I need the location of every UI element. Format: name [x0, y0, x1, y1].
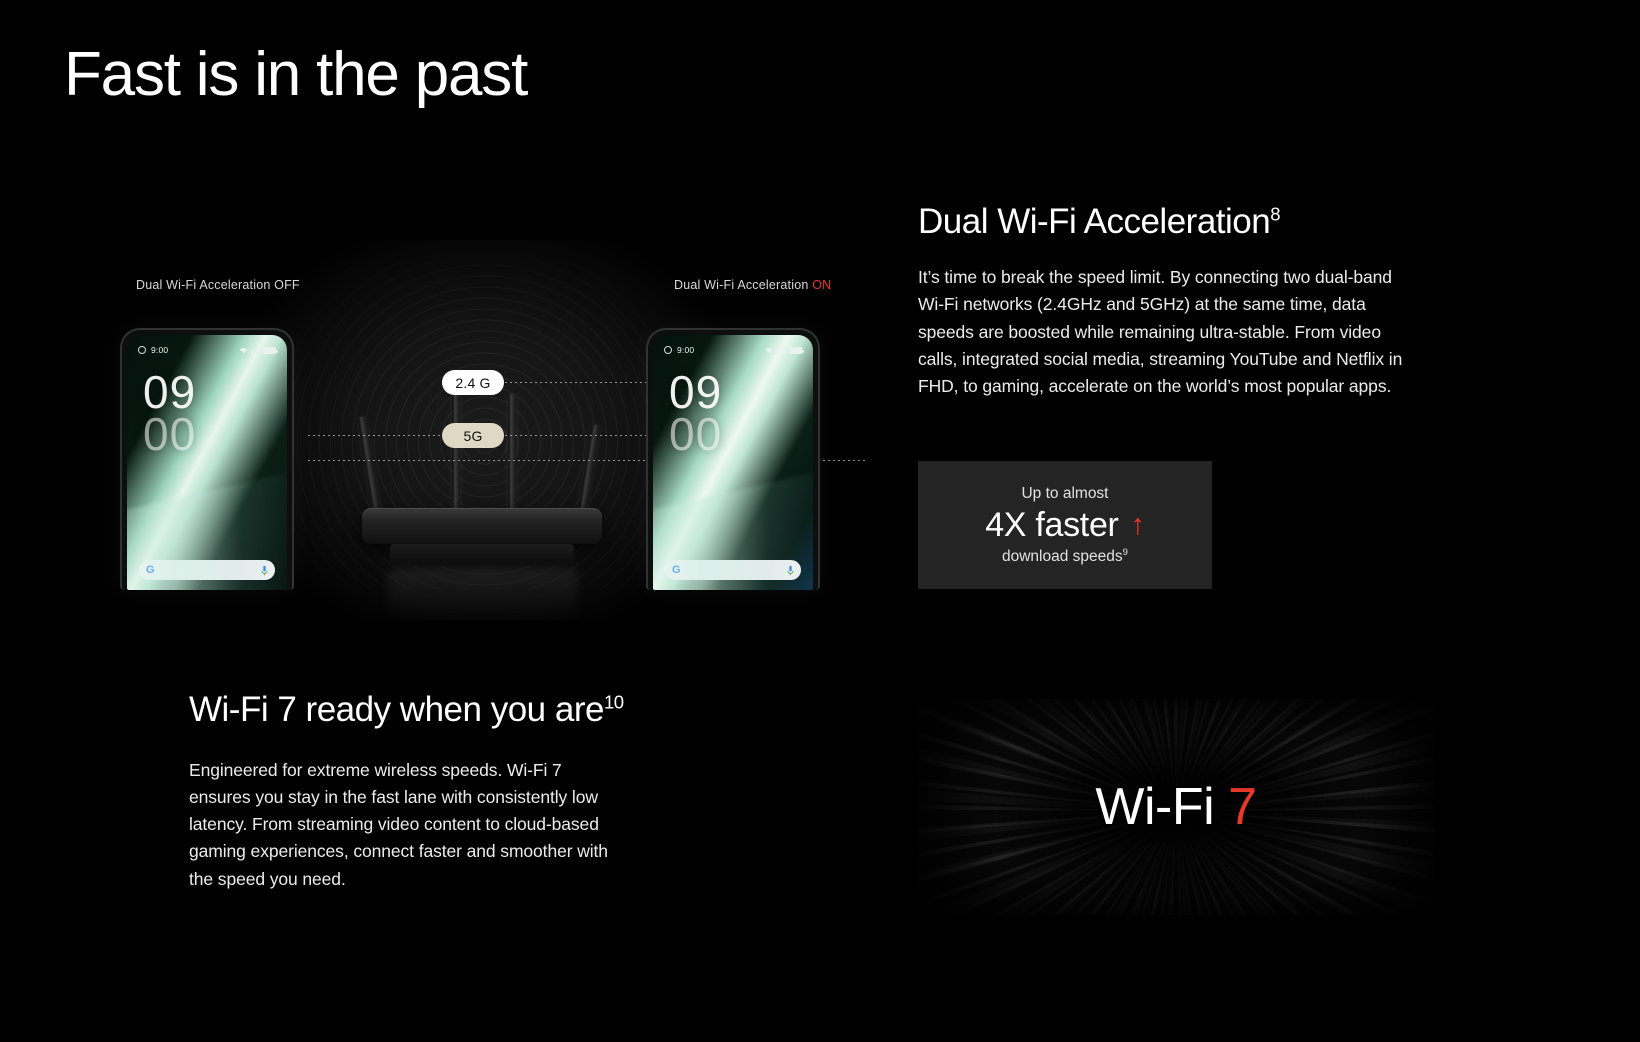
badge-bottom-label: download speeds9 [1002, 548, 1128, 566]
wifi7-panel-label-accent: 7 [1228, 778, 1256, 836]
page-title: Fast is in the past [64, 42, 527, 107]
phone-mockup-left: 9:00 09 00 G [120, 328, 294, 590]
battery-icon [263, 347, 276, 354]
clock-hour-left: 09 [143, 371, 196, 413]
microphone-icon[interactable] [787, 565, 794, 576]
badge-top-label: Up to almost [1021, 485, 1108, 503]
lockscreen-clock-left: 09 00 [143, 371, 196, 456]
status-bar-right-group [765, 346, 802, 354]
speed-badge: Up to almost 4X faster ↑ download speeds… [918, 461, 1212, 589]
wifi-icon [765, 347, 774, 354]
camera-punchhole-icon [138, 346, 146, 354]
wifi7-panel-label: Wi-Fi 7 [918, 777, 1434, 837]
signal-bars-icon [251, 346, 260, 354]
status-time-right: 9:00 [677, 345, 694, 355]
wifi7-section: Wi-Fi 7 ready when you are10 Engineered … [189, 690, 659, 893]
status-bar-left: 9:00 [127, 343, 287, 357]
badge-bottom-text: download speeds [1002, 548, 1123, 565]
status-bar-left-group: 9:00 [664, 345, 694, 355]
band-pill-5g: 5G [442, 423, 504, 448]
router-base [390, 544, 574, 566]
footnote-marker-9: 9 [1123, 546, 1128, 557]
connector-line [308, 435, 442, 436]
caption-acceleration-off: Dual Wi-Fi Acceleration OFF [136, 278, 300, 292]
google-search-bar-right[interactable]: G [665, 560, 801, 580]
wifi7-panel-label-main: Wi-Fi [1095, 778, 1228, 836]
router-antenna [508, 394, 516, 522]
dual-wifi-section: Dual Wi-Fi Acceleration8 It’s time to br… [918, 202, 1418, 400]
phone-screen-left: 9:00 09 00 G [127, 335, 287, 590]
battery-icon [789, 347, 802, 354]
page-root: Fast is in the past Dual Wi-Fi Accelerat… [0, 0, 1640, 1042]
caption-acceleration-on: Dual Wi-Fi Acceleration ON [674, 278, 831, 292]
clock-minute-left: 00 [143, 413, 196, 455]
wifi7-heading-text: Wi-Fi 7 ready when you are [189, 690, 604, 729]
status-bar-right-group [239, 346, 276, 354]
badge-value: 4X faster [985, 506, 1118, 545]
caption-on-state: ON [812, 278, 831, 292]
wifi7-image-panel: Wi-Fi 7 [918, 699, 1434, 915]
dual-wifi-heading: Dual Wi-Fi Acceleration8 [918, 202, 1418, 242]
wifi7-heading: Wi-Fi 7 ready when you are10 [189, 690, 659, 730]
lockscreen-clock-right: 09 00 [669, 371, 722, 456]
caption-on-prefix: Dual Wi-Fi Acceleration [674, 278, 812, 292]
wifi-icon [239, 347, 248, 354]
badge-value-row: 4X faster ↑ [985, 506, 1145, 545]
phone-screen-right: 9:00 09 00 G [653, 335, 813, 590]
signal-bars-icon [777, 346, 786, 354]
router-reflection [388, 568, 578, 622]
dual-wifi-illustration: Dual Wi-Fi Acceleration OFF Dual Wi-Fi A… [70, 260, 880, 600]
microphone-icon[interactable] [261, 565, 268, 576]
dual-wifi-heading-text: Dual Wi-Fi Acceleration [918, 202, 1270, 241]
clock-minute-right: 00 [669, 413, 722, 455]
status-time-left: 9:00 [151, 345, 168, 355]
status-bar-right: 9:00 [653, 343, 813, 357]
router-antenna [452, 394, 460, 522]
footnote-marker-10: 10 [604, 691, 624, 712]
band-pill-2-4g: 2.4 G [442, 370, 504, 395]
google-logo-icon: G [672, 565, 681, 576]
footnote-marker-8: 8 [1270, 203, 1280, 224]
google-search-bar-left[interactable]: G [139, 560, 275, 580]
wifi7-body: Engineered for extreme wireless speeds. … [189, 757, 624, 893]
phone-mockup-right: 9:00 09 00 G [646, 328, 820, 590]
clock-hour-right: 09 [669, 371, 722, 413]
status-bar-left-group: 9:00 [138, 345, 168, 355]
dual-wifi-body: It’s time to break the speed limit. By c… [918, 264, 1413, 400]
google-logo-icon: G [146, 565, 155, 576]
arrow-up-icon: ↑ [1131, 511, 1145, 540]
router-body [362, 508, 602, 544]
camera-punchhole-icon [664, 346, 672, 354]
